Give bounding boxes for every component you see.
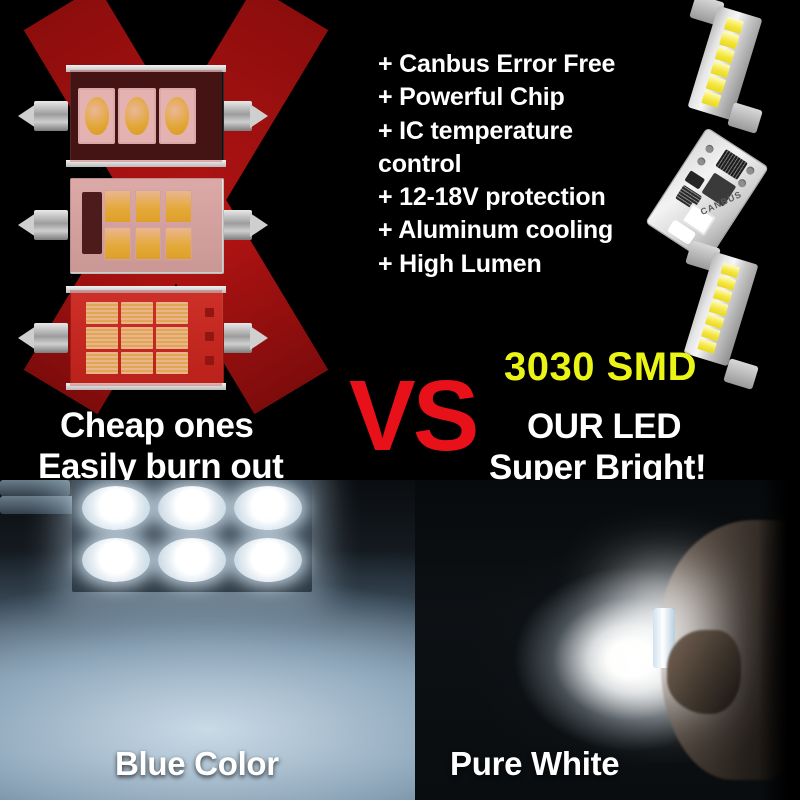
top-comparison-panel: + Canbus Error Free + Powerful Chip + IC… [0, 0, 800, 480]
solder-pad [205, 308, 214, 317]
via-hole [737, 178, 748, 189]
lit-led-chip [234, 538, 302, 582]
lit-led-chip [82, 538, 150, 582]
lit-6-chip-module [72, 480, 312, 592]
feature-item-canbus: + Canbus Error Free [378, 48, 708, 81]
led-chip [156, 302, 188, 324]
led-chip [159, 88, 196, 144]
bulb-rail-bottom [66, 160, 226, 167]
led-chip [135, 227, 162, 260]
bulb-body [70, 290, 222, 386]
hand-thumb [667, 630, 741, 714]
led-chip [86, 352, 118, 374]
photo-edge-vignette [758, 480, 800, 800]
cheap-headline-line1: Cheap ones [60, 406, 253, 446]
bulb-cap-right [218, 97, 268, 135]
our-headline-line2: Super Bright! [489, 448, 706, 480]
led-chip-strip [701, 17, 744, 108]
led-chip [165, 190, 192, 223]
led-chip-strip [697, 263, 740, 354]
led-chip [78, 88, 115, 144]
led-chip [118, 88, 155, 144]
led-chip [697, 338, 717, 354]
led-chip [121, 352, 153, 374]
cheap-bulb-9-chip [18, 290, 268, 386]
led-chip [121, 302, 153, 324]
our-t10-canbus-bulb: CANBUS [664, 128, 792, 256]
lit-led-chip [158, 538, 226, 582]
bulb-socket-left [0, 480, 70, 496]
via-hole [704, 143, 715, 154]
led-chip [86, 302, 118, 324]
feature-item-high-lumen: + High Lumen [378, 248, 708, 281]
feature-item-ic-temperature: + IC temperature control [378, 115, 708, 182]
vs-badge: VS [349, 366, 476, 466]
feature-list: + Canbus Error Free + Powerful Chip + IC… [378, 48, 708, 281]
bulb-aluminum-body [688, 6, 763, 121]
lit-led-chip [158, 486, 226, 530]
t10-pcb: CANBUS [645, 127, 769, 263]
led-chip [121, 327, 153, 349]
bulb-cap-right [218, 319, 268, 357]
led-chip [165, 227, 192, 260]
smd-type-badge: 3030 SMD [504, 345, 697, 390]
bulb-rail-bottom [66, 383, 226, 390]
bulb-cap-left [18, 97, 68, 135]
led-chip [104, 190, 131, 223]
bulb-cap-right [218, 206, 268, 244]
bulb-cap-left [18, 319, 68, 357]
led-chip [706, 75, 726, 93]
bulb-cap-left [18, 206, 68, 244]
lit-led-chip [82, 486, 150, 530]
bulb-body [70, 70, 222, 162]
solder-pad [205, 356, 214, 365]
our-headline-line1: OUR LED [527, 407, 681, 447]
bulb-body [70, 178, 222, 272]
bulb-socket-right [0, 496, 78, 514]
our-festoon-bulb-top [676, 6, 786, 124]
led-chip [156, 327, 188, 349]
cheap-bulb-3-chip [18, 70, 268, 162]
led-chip [719, 31, 739, 49]
cheap-headline-line2: Easily burn out [38, 447, 283, 480]
bulb-cap-bottom [723, 358, 759, 390]
bulb-rail-top [66, 286, 226, 293]
led-chip [701, 90, 721, 108]
led-chip-grid [104, 190, 192, 260]
caption-pure-white: Pure White [450, 745, 619, 783]
via-hole [745, 165, 756, 176]
led-chip [86, 327, 118, 349]
feature-item-powerful-chip: + Powerful Chip [378, 81, 708, 114]
led-chip [135, 190, 162, 223]
bulb-driver-pad [82, 192, 102, 254]
via-hole [696, 156, 707, 167]
lit-led-chip [234, 486, 302, 530]
bulb-rail-top [66, 65, 226, 72]
led-chip-grid [86, 302, 188, 374]
led-chip-grid [78, 88, 196, 144]
led-chip [104, 227, 131, 260]
cheap-bulb-6-chip [18, 178, 268, 272]
caption-blue-color: Blue Color [115, 745, 279, 783]
led-chip [156, 352, 188, 374]
solder-pad [205, 332, 214, 341]
product-comparison-image: + Canbus Error Free + Powerful Chip + IC… [0, 0, 800, 800]
